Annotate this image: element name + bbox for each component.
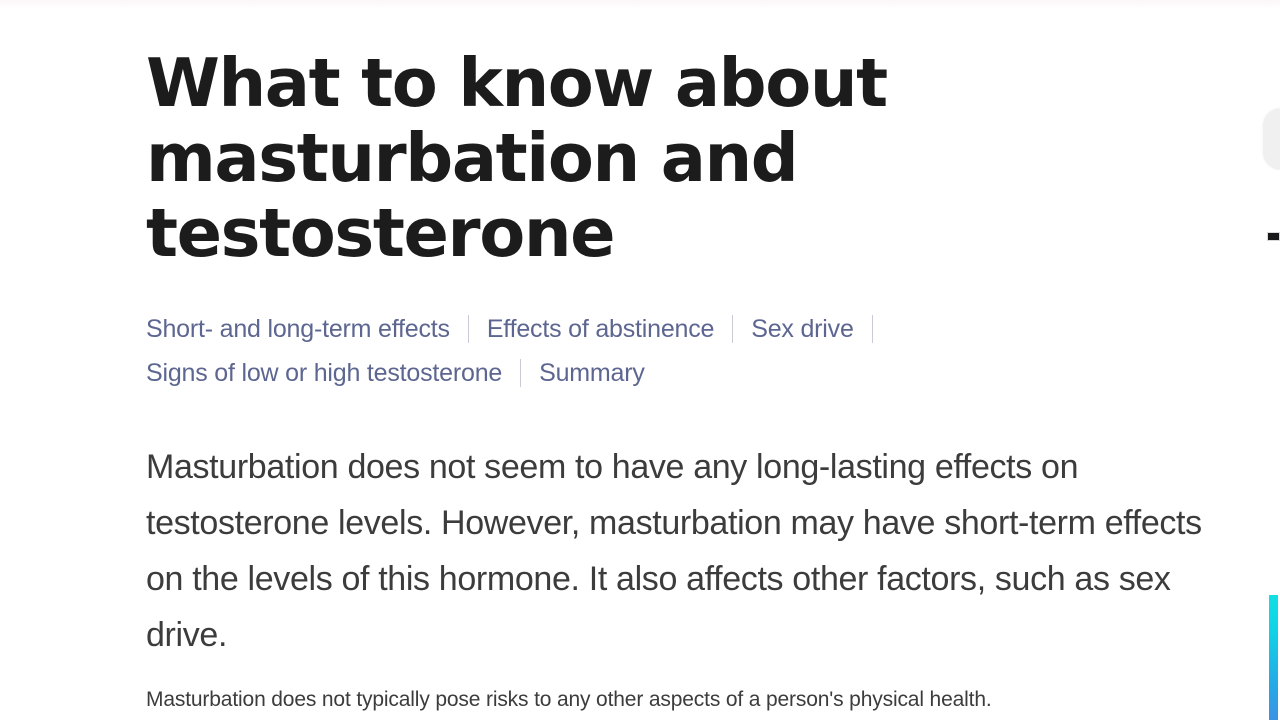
edge-round-button[interactable] [1263,108,1280,170]
toc-link-short-and-long-term-effects[interactable]: Short- and long-term effects [146,314,450,344]
toc-row-2: Signs of low or high testosterone Summar… [146,351,1016,395]
toc-separator [468,315,469,343]
toc-separator [732,315,733,343]
toc-link-sex-drive[interactable]: Sex drive [751,314,853,344]
toc-separator [520,359,521,387]
edge-accent-bar [1269,595,1278,720]
article-caption: Masturbation does not typically pose ris… [146,685,1216,715]
toc-link-signs-of-low-or-high-testosterone[interactable]: Signs of low or high testosterone [146,358,502,388]
article-lede-paragraph: Masturbation does not seem to have any l… [146,439,1206,663]
article-container: What to know about masturbation and test… [146,0,1206,715]
toc-row-1: Short- and long-term effects Effects of … [146,307,1016,351]
page-title: What to know about masturbation and test… [146,46,1186,271]
toc-link-summary[interactable]: Summary [539,358,645,388]
toc-separator-trailing [872,315,873,343]
toc-link-effects-of-abstinence[interactable]: Effects of abstinence [487,314,714,344]
edge-dark-square-marker[interactable] [1267,232,1280,241]
table-of-contents-nav: Short- and long-term effects Effects of … [146,307,1016,395]
